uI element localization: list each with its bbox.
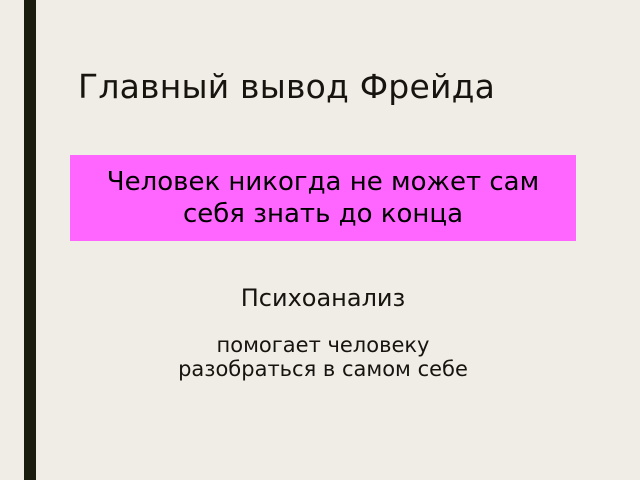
- subheading-text: Психоанализ: [70, 283, 576, 313]
- page-title: Главный вывод Фрейда: [78, 66, 598, 108]
- highlighted-statement-text: Человек никогда не может сам себя знать …: [76, 166, 570, 230]
- presentation-slide: Главный вывод Фрейда Человек никогда не …: [0, 0, 640, 480]
- highlighted-statement-box: Человек никогда не может сам себя знать …: [70, 155, 576, 241]
- left-accent-bar: [24, 0, 36, 480]
- body-paragraph-text: помогает человеку разобраться в самом се…: [170, 333, 476, 381]
